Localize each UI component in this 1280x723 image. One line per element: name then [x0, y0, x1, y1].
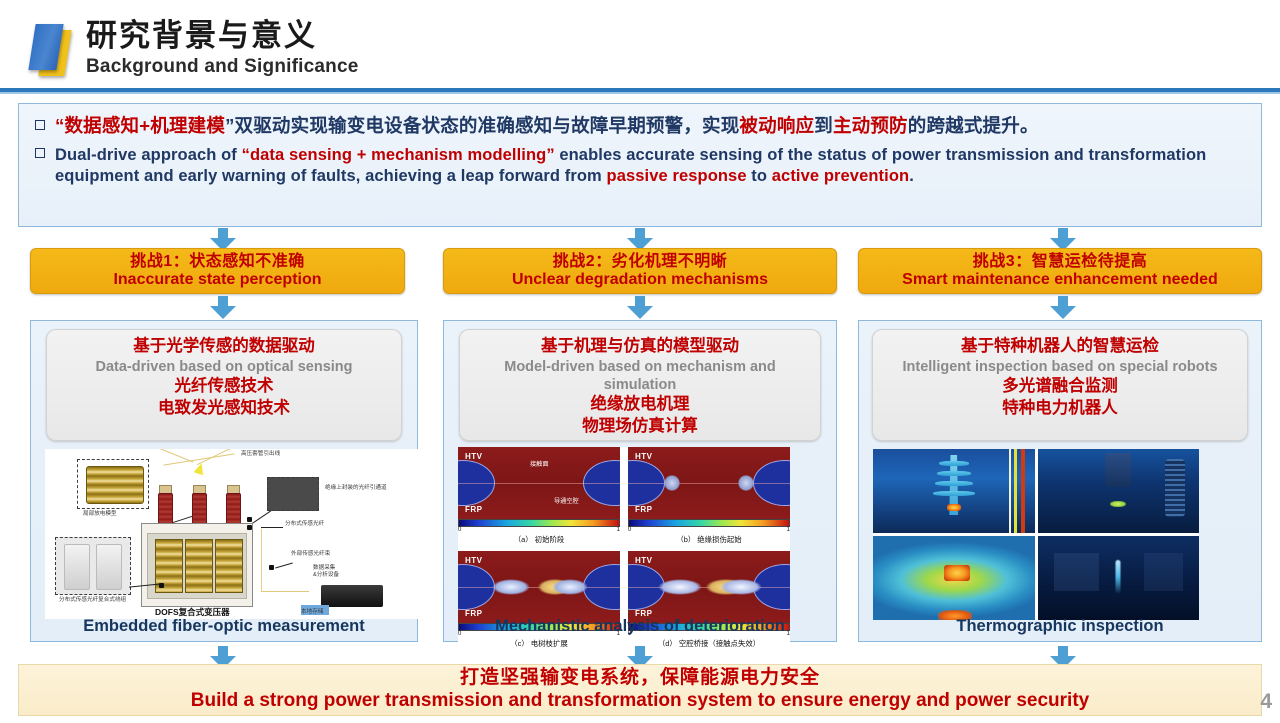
solution-card-2: 基于机理与仿真的模型驱动 Model-driven based on mecha… — [459, 329, 821, 441]
conclusion-cn: 打造坚强输变电系统，保障能源电力安全 — [460, 667, 820, 689]
leader-line-bundle — [275, 563, 293, 569]
bridged-cavity-right-d — [720, 579, 762, 595]
challenge-banner-3[interactable]: 挑战3：智慧运检待提高 Smart maintenance enhancemen… — [858, 248, 1262, 294]
coil-graphic-top — [86, 466, 144, 504]
challenge-banner-1[interactable]: 挑战1：状态感知不准确 Inaccurate state perception — [30, 248, 405, 294]
fiber-node-2 — [269, 565, 274, 570]
slide: 研究背景与意义 Background and Significance “数据感… — [0, 0, 1280, 723]
statement-en-row: Dual-drive approach of “data sensing + m… — [33, 143, 1247, 188]
solution-panel-1: 基于光学传感的数据驱动 Data-driven based on optical… — [30, 320, 418, 642]
label-encapsulated-fiber-text: 绝缘上封装的光纤引通道 — [325, 485, 387, 491]
callout-dot-2 — [247, 517, 252, 522]
hotspot-marker-1 — [947, 504, 961, 511]
thermal-image-insulator-column — [873, 449, 1035, 533]
solution-card-3-item-1: 多光谱融合监测 — [879, 376, 1241, 398]
label-partial-discharge-model: 局部放电模型 — [83, 511, 117, 518]
solution-card-3-item-2: 特种电力机器人 — [879, 398, 1241, 420]
thermal-scale-stripe-yellow — [1014, 449, 1017, 533]
solution-card-1-title-en: Data-driven based on optical sensing — [53, 358, 395, 376]
simulation-image-a: HTV FRP 接触面 导通空腔 — [458, 447, 620, 519]
challenge-banner-2-en: Unclear degradation mechanisms — [512, 271, 768, 289]
challenge-banner-2-cn: 挑战2：劣化机理不明晰 — [553, 253, 727, 271]
simulation-cell-b: HTV FRP 0 1 （b） 绝缘损伤起始 — [628, 447, 790, 545]
simulation-cell-a: HTV FRP 接触面 导通空腔 0 1 （a） 初始阶段 — [458, 447, 620, 545]
label-external-fiber-bundle: 外部传感光纤束 — [291, 551, 330, 558]
fiber-node-1 — [247, 525, 252, 530]
statement-cn-row: “数据感知+机理建模”双驱动实现输变电设备状态的准确感知与故障早期预警，实现被动… — [33, 113, 1247, 139]
statement-cn-text: “数据感知+机理建模”双驱动实现输变电设备状态的准确感知与故障早期预警，实现被动… — [55, 113, 1039, 139]
figure-caption-3: Thermographic inspection — [859, 617, 1261, 636]
solution-card-2-item-2: 物理场仿真计算 — [466, 416, 814, 438]
electrical-tree-right-c — [552, 579, 588, 595]
hotspot-marker-2 — [1110, 501, 1126, 507]
arrow-banner-2-to-panel — [627, 296, 653, 319]
label-local-storage: 本地存储 — [301, 609, 323, 616]
statement-en-to: to — [747, 167, 772, 185]
challenge-banner-3-cn: 挑战3：智慧运检待提高 — [973, 253, 1147, 271]
challenge-banner-1-en: Inaccurate state perception — [113, 271, 321, 289]
challenge-banner-1-cn: 挑战1：状态感知不准确 — [130, 253, 304, 271]
logo-icon — [28, 22, 84, 74]
statement-cn-tail: 的跨越式提升。 — [908, 115, 1039, 136]
label-distributed-fiber: 分布式传感光纤 — [285, 521, 324, 528]
statement-en-period: . — [909, 167, 914, 185]
insulator-disc-2 — [937, 471, 971, 476]
solution-panel-2: 基于机理与仿真的模型驱动 Model-driven based on mecha… — [443, 320, 837, 642]
colorbar-max-a: 1 — [617, 527, 620, 533]
bushing-3 — [226, 493, 241, 525]
winding-photo-coil-a — [64, 544, 90, 590]
region-label-htv-d: HTV — [635, 556, 653, 565]
region-label-frp-a: FRP — [465, 505, 483, 514]
insulator-disc-4 — [933, 491, 975, 496]
statement-en-lead: Dual-drive approach of — [55, 146, 242, 164]
thermal-scale-stripe-red — [1021, 449, 1025, 533]
solution-card-3-title-en: Intelligent inspection based on special … — [879, 358, 1241, 376]
simulation-caption-b: （b） 绝缘损伤起始 — [628, 534, 790, 545]
statement-cn-highlight-2: 被动响应 — [739, 115, 814, 136]
partial-discharge-model-box — [77, 459, 149, 509]
hotspot-marker-3 — [944, 565, 970, 581]
solution-card-2-title-cn: 基于机理与仿真的模型驱动 — [466, 336, 814, 358]
label-acquisition-device: 数据采集 &分析设备 — [313, 565, 339, 579]
challenge-column-1: 挑战1：状态感知不准确 Inaccurate state perception — [30, 248, 405, 294]
figure-1-canvas: 高压套管引出线 局部放电模型 绝缘上封装的光纤引通道 — [45, 449, 401, 619]
colorbar-ticks-a: 0 1 — [458, 527, 620, 533]
bushing-1 — [158, 493, 173, 525]
winding-2 — [185, 539, 213, 593]
figure-transformer-fiber-optic: 高压套管引出线 局部放电模型 绝缘上封装的光纤引通道 — [45, 449, 431, 619]
region-label-htv-a: HTV — [465, 452, 483, 461]
label-hv-bushing-lead: 高压套管引出线 — [241, 451, 280, 458]
thermal-image-substation-equipment — [1038, 449, 1200, 533]
colorbar-b — [628, 519, 790, 527]
statement-cn-highlight-1: 数据感知+机理建模 — [64, 115, 225, 136]
damage-initiation-right-b — [738, 475, 754, 491]
fiber-cable-vertical — [261, 529, 262, 591]
colorbar-a — [458, 519, 620, 527]
region-label-htv-c: HTV — [465, 556, 483, 565]
conclusion-banner: 打造坚强输变电系统，保障能源电力安全 Build a strong power … — [18, 664, 1262, 716]
label-conductive-cavity: 导通空腔 — [554, 496, 579, 505]
statement-cn-highlight-3: 主动预防 — [833, 115, 908, 136]
thermal-image-insulator-closeup — [873, 536, 1035, 620]
electrical-tree-left-c — [492, 579, 530, 595]
simulation-image-d: HTV FRP — [628, 551, 790, 623]
page-title-en: Background and Significance — [86, 57, 359, 76]
equipment-body — [1105, 453, 1131, 487]
leader-line-dist-fiber — [261, 527, 283, 528]
winding-3 — [215, 539, 243, 593]
solution-card-3-title-cn: 基于特种机器人的智慧运检 — [879, 336, 1241, 358]
challenge-column-3: 挑战3：智慧运检待提高 Smart maintenance enhancemen… — [858, 248, 1262, 294]
solution-panel-3: 基于特种机器人的智慧运检 Intelligent inspection base… — [858, 320, 1262, 642]
encapsulated-fiber-photo — [267, 477, 319, 511]
fiber-cable-horizontal — [261, 591, 309, 592]
damage-initiation-left-b — [664, 475, 680, 491]
label-winding-photo: 分布式传感光纤复合式绕组 — [59, 597, 126, 604]
solution-card-1-item-2: 电致发光感知技术 — [53, 398, 395, 420]
equipment-coil — [1165, 459, 1185, 517]
bullet-square-icon-2 — [35, 148, 45, 158]
quote-open-en: “ — [242, 146, 250, 164]
statement-cn-mid-2: 到 — [814, 115, 833, 136]
thermal-image-grid — [873, 449, 1199, 620]
lightning-bolt-icon — [194, 462, 207, 476]
statement-box: “数据感知+机理建模”双驱动实现输变电设备状态的准确感知与故障早期预警，实现被动… — [18, 103, 1262, 227]
region-label-frp-b: FRP — [635, 505, 653, 514]
label-contact-surface: 接触面 — [530, 459, 549, 468]
winding-photo-box — [55, 537, 131, 595]
simulation-image-b: HTV FRP — [628, 447, 790, 519]
statement-en-highlight-2: passive response — [607, 167, 747, 185]
interface-line-b — [628, 483, 790, 484]
simulation-image-c: HTV FRP — [458, 551, 620, 623]
page-title-cn: 研究背景与意义 — [86, 20, 317, 51]
interface-line-a — [458, 483, 620, 484]
uv-discharge-plume — [1116, 560, 1121, 594]
bullet-square-icon — [35, 120, 45, 130]
solution-card-1: 基于光学传感的数据驱动 Data-driven based on optical… — [46, 329, 402, 441]
slide-header: 研究背景与意义 Background and Significance — [0, 0, 1280, 90]
quote-close-en: ” — [546, 146, 554, 164]
bridged-cavity-left-d — [658, 579, 702, 595]
uv-background-structure-left — [1054, 553, 1099, 591]
arrow-banner-3-to-panel — [1050, 296, 1076, 319]
uv-background-structure-right — [1144, 553, 1183, 591]
statement-en-text: Dual-drive approach of “data sensing + m… — [55, 145, 1247, 188]
colorbar-max-b: 1 — [787, 527, 790, 533]
label-encapsulated-fiber: 绝缘上封装的光纤引通道 — [325, 485, 387, 492]
figure-caption-2: Mechanistic analysis of deterioration — [444, 617, 836, 636]
solution-card-1-title-cn: 基于光学传感的数据驱动 — [53, 336, 395, 358]
leader-line-fiber — [251, 510, 271, 524]
conclusion-en: Build a strong power transmission and tr… — [191, 690, 1089, 713]
thermal-image-uv-discharge — [1038, 536, 1200, 620]
insulator-disc-3 — [935, 481, 973, 486]
header-divider-secondary — [0, 92, 1280, 94]
statement-en-highlight-3: active prevention — [772, 167, 909, 185]
thermal-scale-stripe-white — [1009, 449, 1011, 533]
challenge-banner-2[interactable]: 挑战2：劣化机理不明晰 Unclear degradation mechanis… — [443, 248, 837, 294]
simulation-caption-a: （a） 初始阶段 — [458, 534, 620, 545]
solution-card-2-title-en: Model-driven based on mechanism and simu… — [466, 358, 814, 395]
solution-card-2-item-1: 绝缘放电机理 — [466, 394, 814, 416]
colorbar-ticks-b: 0 1 — [628, 527, 790, 533]
challenge-banner-3-en: Smart maintenance enhancement needed — [902, 271, 1218, 289]
colorbar-min-b: 0 — [628, 527, 631, 533]
insulator-disc-1 — [939, 461, 969, 466]
winding-photo-coil-b — [96, 544, 122, 590]
arrow-banner-1-to-panel — [210, 296, 236, 319]
bushing-2 — [192, 493, 207, 525]
figure-caption-1: Embedded fiber-optic measurement — [31, 617, 417, 636]
simulation-caption-c: （c） 电树枝扩展 — [458, 638, 620, 649]
statement-cn-mid-1: ”双驱动实现输变电设备状态的准确感知与故障早期预警，实现 — [225, 115, 739, 136]
solution-card-3: 基于特种机器人的智慧运检 Intelligent inspection base… — [872, 329, 1248, 441]
callout-dot-3 — [159, 583, 164, 588]
acquisition-device-graphic — [321, 585, 383, 607]
colorbar-min-a: 0 — [458, 527, 461, 533]
page-number: 4 — [1260, 690, 1272, 714]
region-label-htv-b: HTV — [635, 452, 653, 461]
challenge-column-2: 挑战2：劣化机理不明晰 Unclear degradation mechanis… — [443, 248, 837, 294]
figure-thermographic-images — [873, 449, 1199, 620]
statement-en-highlight-1: data sensing + mechanism modelling — [250, 146, 546, 164]
solution-card-1-item-1: 光纤传感技术 — [53, 376, 395, 398]
